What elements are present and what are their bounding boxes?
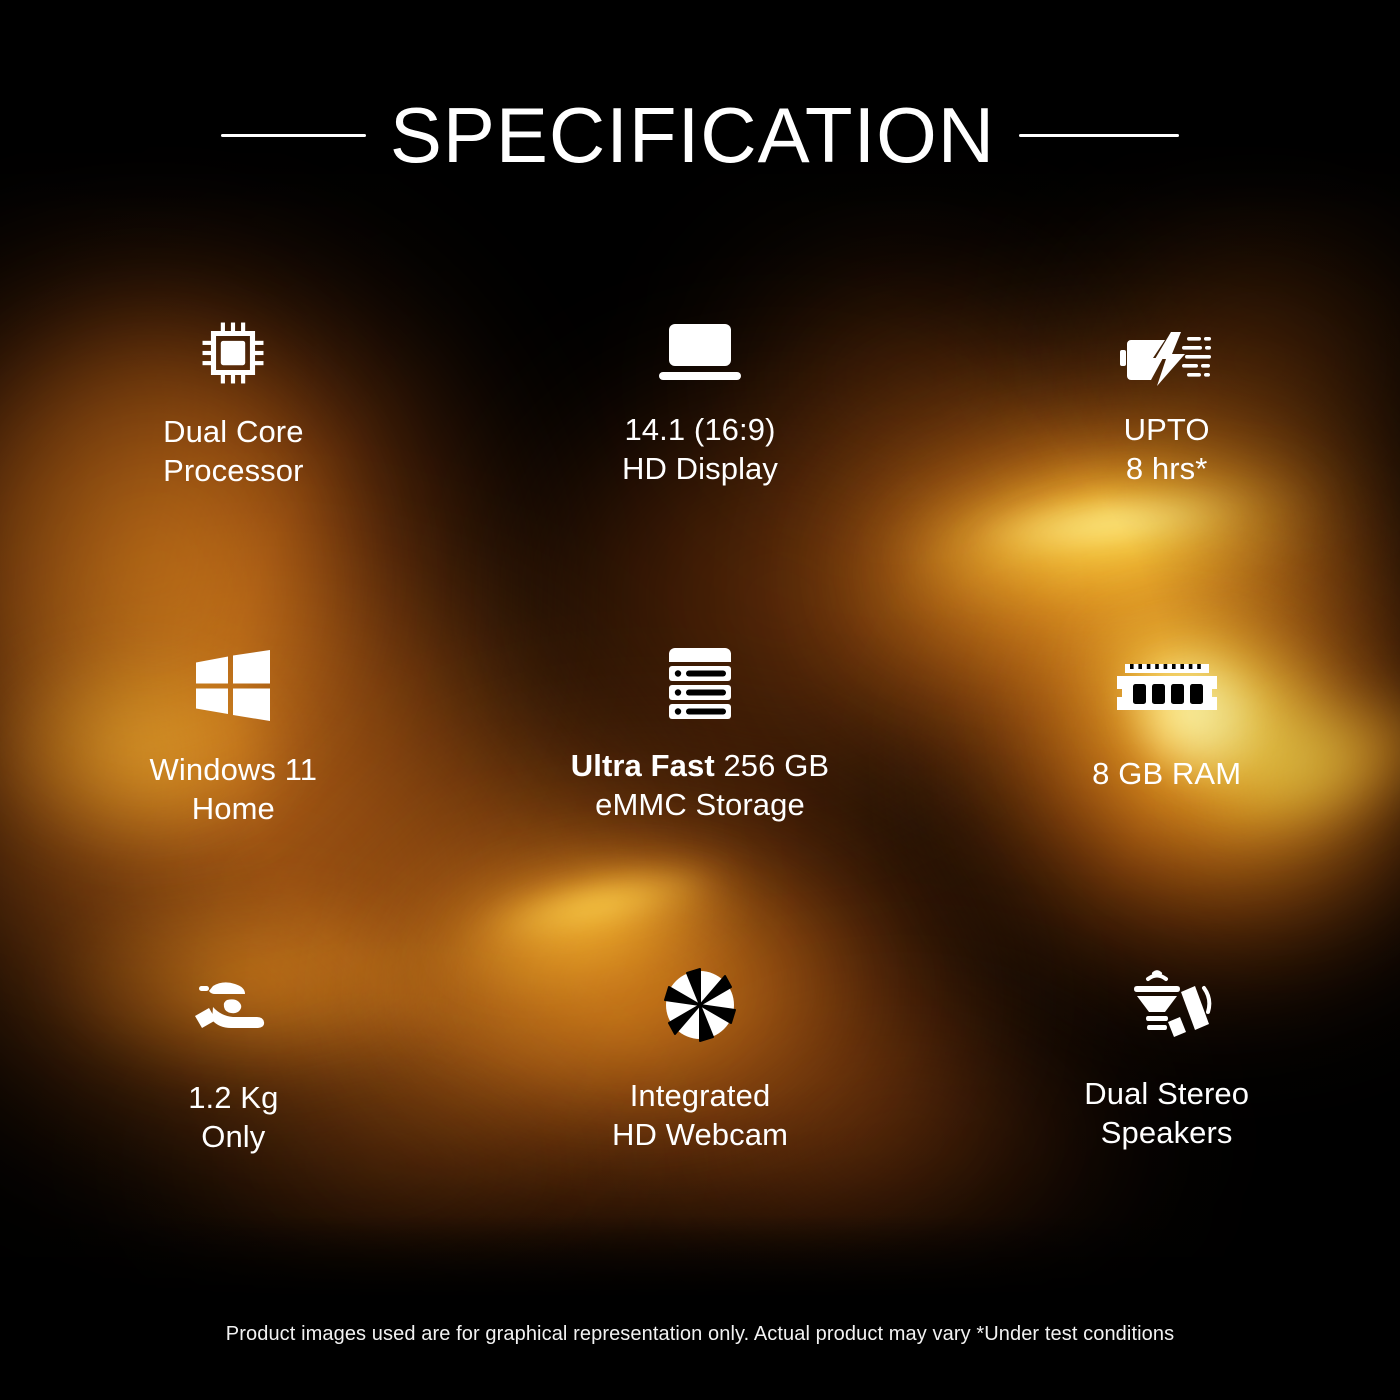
page-title: SPECIFICATION bbox=[390, 96, 995, 174]
spec-line1-regular: 256 GB bbox=[723, 748, 829, 783]
spec-line2: Only bbox=[188, 1117, 278, 1156]
cpu-chip-icon bbox=[194, 300, 272, 392]
spec-label-audio: Dual Stereo Speakers bbox=[1084, 1074, 1249, 1152]
specs-grid: Dual Core Processor 14.1 (16:9) HD Displ… bbox=[0, 300, 1400, 1250]
spec-line1: Ultra Fast 256 GB bbox=[571, 746, 829, 785]
battery-charge-icon bbox=[1119, 300, 1215, 392]
spec-label-cpu: Dual Core Processor bbox=[163, 412, 303, 490]
spec-line1: Integrated bbox=[612, 1076, 788, 1115]
spec-item-cpu: Dual Core Processor bbox=[0, 300, 467, 630]
spec-label-os: Windows 11 Home bbox=[150, 750, 318, 828]
spec-label-weight: 1.2 Kg Only bbox=[188, 1078, 278, 1156]
spec-line1: 8 GB RAM bbox=[1092, 754, 1241, 793]
spec-item-ram: 8 GB RAM bbox=[933, 630, 1400, 950]
spec-label-ram: 8 GB RAM bbox=[1092, 754, 1241, 793]
spec-line1: Dual Stereo bbox=[1084, 1074, 1249, 1113]
spec-line2: HD Display bbox=[622, 449, 778, 488]
spec-line1-bold: Ultra Fast bbox=[571, 748, 715, 783]
spec-label-webcam: Integrated HD Webcam bbox=[612, 1076, 788, 1154]
header-divider-right bbox=[1019, 134, 1179, 137]
footer-disclaimer: Product images used are for graphical re… bbox=[0, 1323, 1400, 1346]
spec-line1: Windows 11 bbox=[150, 750, 318, 789]
spec-label-display: 14.1 (16:9) HD Display bbox=[622, 410, 778, 488]
memory-stick-icon bbox=[1111, 630, 1223, 722]
spec-line2: HD Webcam bbox=[612, 1115, 788, 1154]
spec-line1: 1.2 Kg bbox=[188, 1078, 278, 1117]
spec-item-display: 14.1 (16:9) HD Display bbox=[467, 300, 934, 630]
spec-item-battery: UPTO 8 hrs* bbox=[933, 300, 1400, 630]
camera-aperture-icon bbox=[663, 950, 737, 1042]
header-divider-left bbox=[221, 134, 366, 137]
specification-poster: SPECIFICATION bbox=[0, 0, 1400, 1400]
hand-laptop-icon bbox=[191, 950, 275, 1042]
page-header: SPECIFICATION bbox=[0, 96, 1400, 174]
spec-label-battery: UPTO 8 hrs* bbox=[1124, 410, 1210, 488]
spec-item-weight: 1.2 Kg Only bbox=[0, 950, 467, 1250]
windows-logo-icon bbox=[193, 630, 273, 722]
spec-line1: UPTO bbox=[1124, 410, 1210, 449]
spec-item-webcam: Integrated HD Webcam bbox=[467, 950, 934, 1250]
spec-line1: 14.1 (16:9) bbox=[622, 410, 778, 449]
laptop-display-icon bbox=[654, 300, 746, 392]
spec-item-audio: Dual Stereo Speakers bbox=[933, 950, 1400, 1250]
spec-label-storage: Ultra Fast 256 GB eMMC Storage bbox=[571, 746, 829, 824]
spec-line2: Processor bbox=[163, 451, 303, 490]
spec-line2: 8 hrs* bbox=[1124, 449, 1210, 488]
spec-line1: Dual Core bbox=[163, 412, 303, 451]
spec-line2: Home bbox=[150, 789, 318, 828]
spec-item-storage: Ultra Fast 256 GB eMMC Storage bbox=[467, 630, 934, 950]
spec-item-os: Windows 11 Home bbox=[0, 630, 467, 950]
dual-speakers-icon bbox=[1121, 950, 1213, 1042]
spec-line2: Speakers bbox=[1084, 1113, 1249, 1152]
spec-line2: eMMC Storage bbox=[571, 785, 829, 824]
storage-stack-icon bbox=[663, 630, 737, 722]
